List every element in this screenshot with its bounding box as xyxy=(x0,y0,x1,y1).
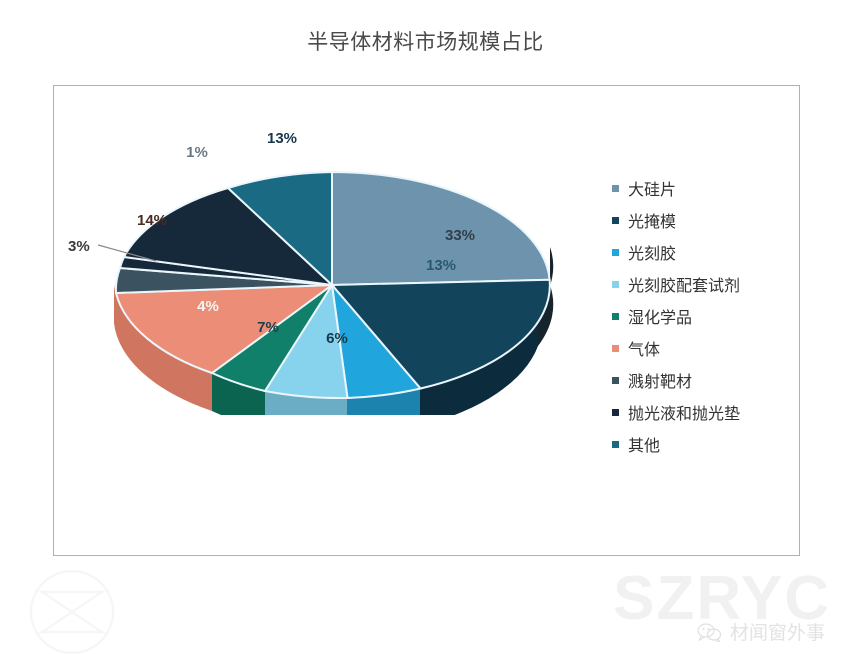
pie-label-others: 13% xyxy=(267,130,297,147)
legend-item-label: 光刻胶 xyxy=(628,240,676,264)
legend-item-cmp[interactable]: 抛光液和抛光垫 xyxy=(612,396,802,428)
account-watermark-label: 材闻窗外事 xyxy=(730,618,825,645)
legend-item-label: 抛光液和抛光垫 xyxy=(628,400,740,424)
pie-chart: 33% 13% 6% 7% 4% 14% 1% 13% xyxy=(60,85,600,415)
pie-label-ancillary: 7% xyxy=(257,319,279,336)
legend-item-label: 气体 xyxy=(628,336,660,360)
legend-swatch-icon xyxy=(612,281,619,288)
legend-item-gases[interactable]: 气体 xyxy=(612,332,802,364)
pie-label-wet-chemicals: 4% xyxy=(197,298,219,315)
wechat-icon xyxy=(696,622,722,642)
legend-item-label: 光刻胶配套试剂 xyxy=(628,272,740,296)
pie-label-photoresist: 6% xyxy=(326,330,348,347)
company-logo-watermark-icon xyxy=(18,566,126,658)
legend-swatch-icon xyxy=(612,249,619,256)
legend-item-big-silicon[interactable]: 大硅片 xyxy=(612,172,802,204)
legend-item-label: 溅射靶材 xyxy=(628,368,692,392)
legend-item-label: 光掩模 xyxy=(628,208,676,232)
legend-swatch-icon xyxy=(612,313,619,320)
pie-label-big-silicon: 33% xyxy=(445,227,475,244)
pie-label-targets: 3% xyxy=(68,238,90,255)
pie-label-gases: 14% xyxy=(137,212,167,229)
pie-chart-svg: 33% 13% 6% 7% 4% 14% 1% 13% xyxy=(60,85,600,415)
legend-swatch-icon xyxy=(612,345,619,352)
legend-item-photoresist[interactable]: 光刻胶 xyxy=(612,236,802,268)
page-title: 半导体材料市场规模占比 xyxy=(0,26,851,56)
legend-swatch-icon xyxy=(612,441,619,448)
legend-swatch-icon xyxy=(612,217,619,224)
legend-item-targets[interactable]: 溅射靶材 xyxy=(612,364,802,396)
legend-swatch-icon xyxy=(612,409,619,416)
legend-item-wet-chemicals[interactable]: 湿化学品 xyxy=(612,300,802,332)
legend-swatch-icon xyxy=(612,377,619,384)
chart-legend: 大硅片 光掩模 光刻胶 光刻胶配套试剂 湿化学品 气体 溅射靶材 抛光液和抛光垫… xyxy=(612,172,802,460)
legend-item-label: 大硅片 xyxy=(628,176,676,200)
legend-item-label: 其他 xyxy=(628,432,660,456)
legend-item-label: 湿化学品 xyxy=(628,304,692,328)
legend-item-others[interactable]: 其他 xyxy=(612,428,802,460)
pie-label-mask: 13% xyxy=(426,257,456,274)
legend-item-ancillary[interactable]: 光刻胶配套试剂 xyxy=(612,268,802,300)
legend-item-mask[interactable]: 光掩模 xyxy=(612,204,802,236)
account-watermark: 材闻窗外事 xyxy=(696,618,825,645)
legend-swatch-icon xyxy=(612,185,619,192)
pie-label-cmp: 1% xyxy=(186,144,208,161)
